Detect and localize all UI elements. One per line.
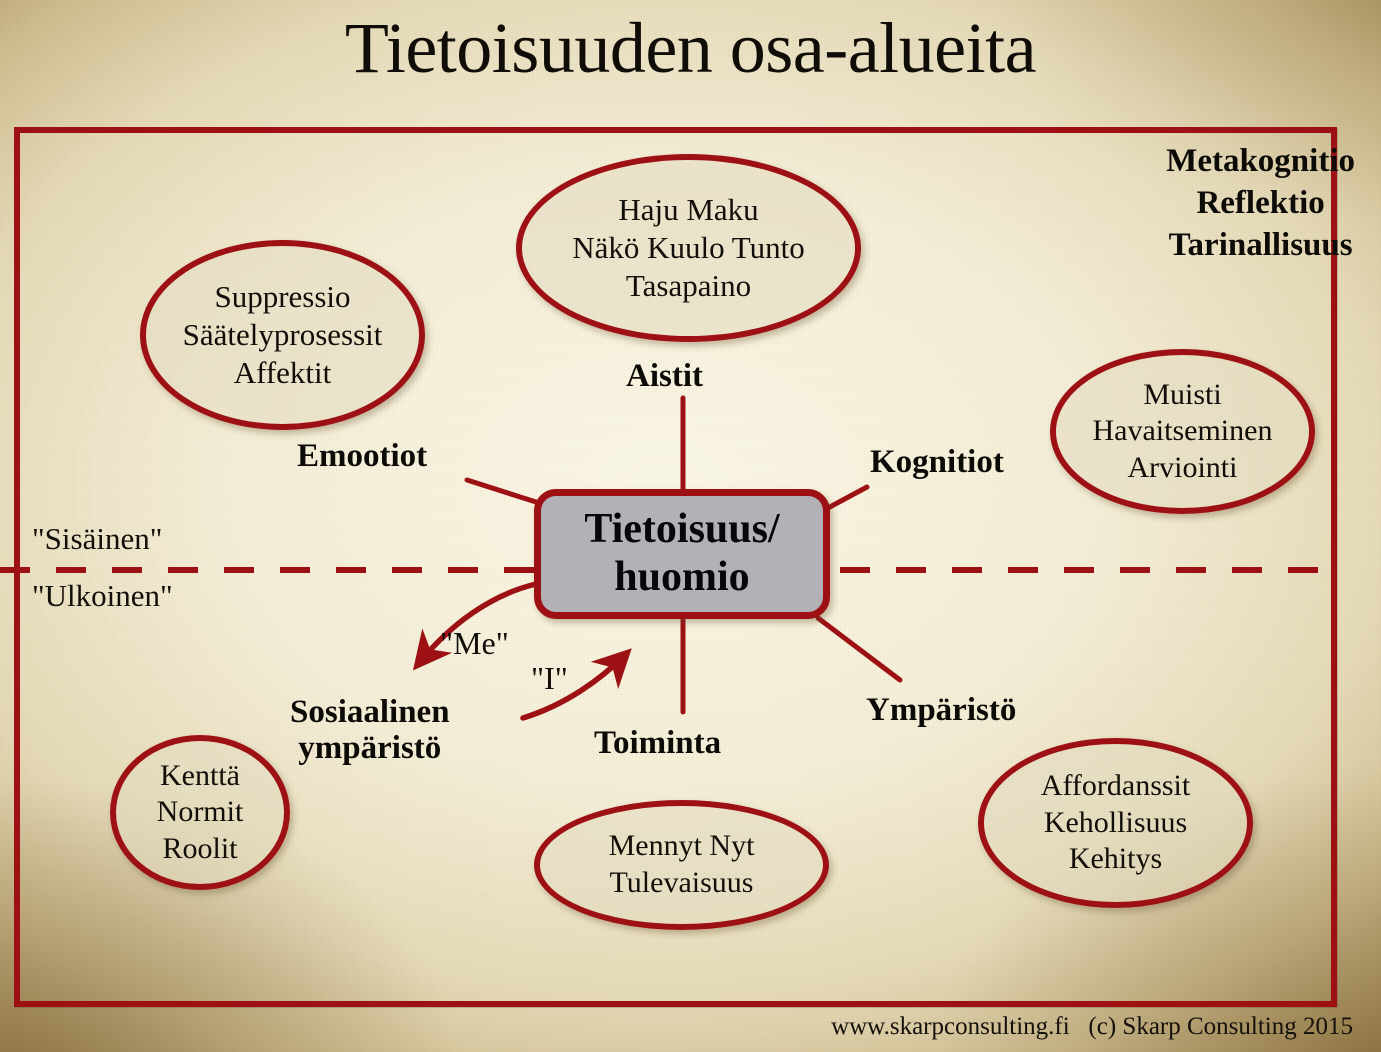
branch-label-kognitiot: Kognitiot	[870, 444, 1004, 480]
center-node-label: Tietoisuus/ huomio	[584, 506, 779, 602]
boundary-label-outer: "Ulkoinen"	[32, 578, 173, 614]
branch-label-ymparisto: Ympäristö	[866, 692, 1016, 728]
emootiot-detail-bubble: Suppressio Säätelyprosessit Affektit	[140, 240, 425, 430]
boundary-label-inner: "Sisäinen"	[32, 521, 162, 557]
arrow-label-me: "Me"	[440, 625, 509, 662]
ymparisto-detail-bubble: Affordanssit Kehollisuus Kehitys	[978, 738, 1253, 908]
aistit-detail-text: Haju Maku Näkö Kuulo Tunto Tasapaino	[572, 191, 805, 304]
sosiaalinen-detail-text: Kenttä Normit Roolit	[157, 758, 244, 868]
ymparisto-detail-text: Affordanssit Kehollisuus Kehitys	[1041, 768, 1190, 878]
aistit-detail-bubble: Haju Maku Näkö Kuulo Tunto Tasapaino	[516, 154, 861, 342]
branch-label-emootiot: Emootiot	[297, 438, 427, 474]
branch-label-sosiaalinen-ymparisto: Sosiaalinen ympäristö	[290, 694, 450, 767]
page-title: Tietoisuuden osa-alueita	[0, 8, 1381, 89]
kognitiot-detail-bubble: Muisti Havaitseminen Arviointi	[1050, 349, 1315, 514]
sosiaalinen-detail-bubble: Kenttä Normit Roolit	[110, 735, 290, 890]
branch-label-toiminta: Toiminta	[594, 725, 721, 761]
branch-label-aistit: Aistit	[626, 358, 703, 394]
emootiot-detail-text: Suppressio Säätelyprosessit Affektit	[183, 278, 383, 391]
diagram-canvas: Tietoisuuden osa-alueita Metakognitio Re…	[0, 0, 1381, 1052]
footer-credit: www.skarpconsulting.fi (c) Skarp Consult…	[831, 1013, 1353, 1041]
metacognition-block: Metakognitio Reflektio Tarinallisuus	[1166, 140, 1355, 267]
arrow-label-i: "I"	[531, 660, 568, 697]
toiminta-detail-text: Mennyt Nyt Tulevaisuus	[609, 828, 755, 901]
center-node-tietoisuus: Tietoisuus/ huomio	[534, 489, 830, 619]
kognitiot-detail-text: Muisti Havaitseminen Arviointi	[1093, 377, 1273, 487]
toiminta-detail-bubble: Mennyt Nyt Tulevaisuus	[534, 800, 829, 930]
